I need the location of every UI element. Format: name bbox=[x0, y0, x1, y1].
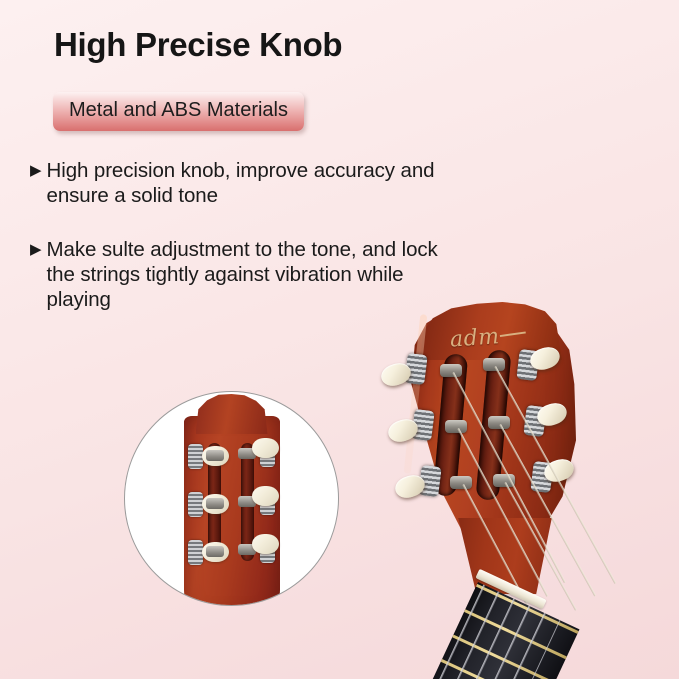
tuning-peg-button bbox=[252, 534, 279, 554]
detail-zoom-inset bbox=[124, 391, 339, 606]
tuning-gear bbox=[188, 444, 203, 469]
brand-logo-text: adm bbox=[449, 324, 500, 352]
fretboard bbox=[432, 582, 580, 679]
product-feature-image: High Precise Knob Metal and ABS Material… bbox=[0, 0, 679, 679]
tuning-peg-button bbox=[252, 486, 279, 506]
string-post bbox=[206, 546, 224, 557]
status-badge: Metal and ABS Materials bbox=[53, 92, 304, 131]
brand-logo: adm bbox=[449, 322, 526, 352]
string-post bbox=[206, 498, 224, 509]
triangle-right-icon: ▶ bbox=[30, 158, 42, 183]
page-title: High Precise Knob bbox=[54, 26, 342, 64]
list-item: ▶ High precision knob, improve accuracy … bbox=[30, 158, 450, 208]
string-post bbox=[488, 416, 510, 429]
string-post bbox=[440, 364, 462, 377]
tuning-gear bbox=[188, 540, 203, 565]
headstock-closeup bbox=[180, 391, 284, 606]
brand-logo-flourish bbox=[499, 331, 525, 337]
headstock-crown bbox=[196, 394, 268, 434]
guitar-headstock-photo: adm bbox=[382, 292, 679, 679]
string-post bbox=[483, 358, 505, 371]
string-post bbox=[450, 476, 472, 489]
tuning-peg-button bbox=[252, 438, 279, 458]
list-item-label: High precision knob, improve accuracy an… bbox=[47, 158, 450, 208]
tuning-gear bbox=[188, 492, 203, 517]
string-post bbox=[445, 420, 467, 433]
badge-container: Metal and ABS Materials bbox=[53, 92, 304, 131]
string-post bbox=[206, 450, 224, 461]
triangle-right-icon: ▶ bbox=[30, 237, 42, 262]
